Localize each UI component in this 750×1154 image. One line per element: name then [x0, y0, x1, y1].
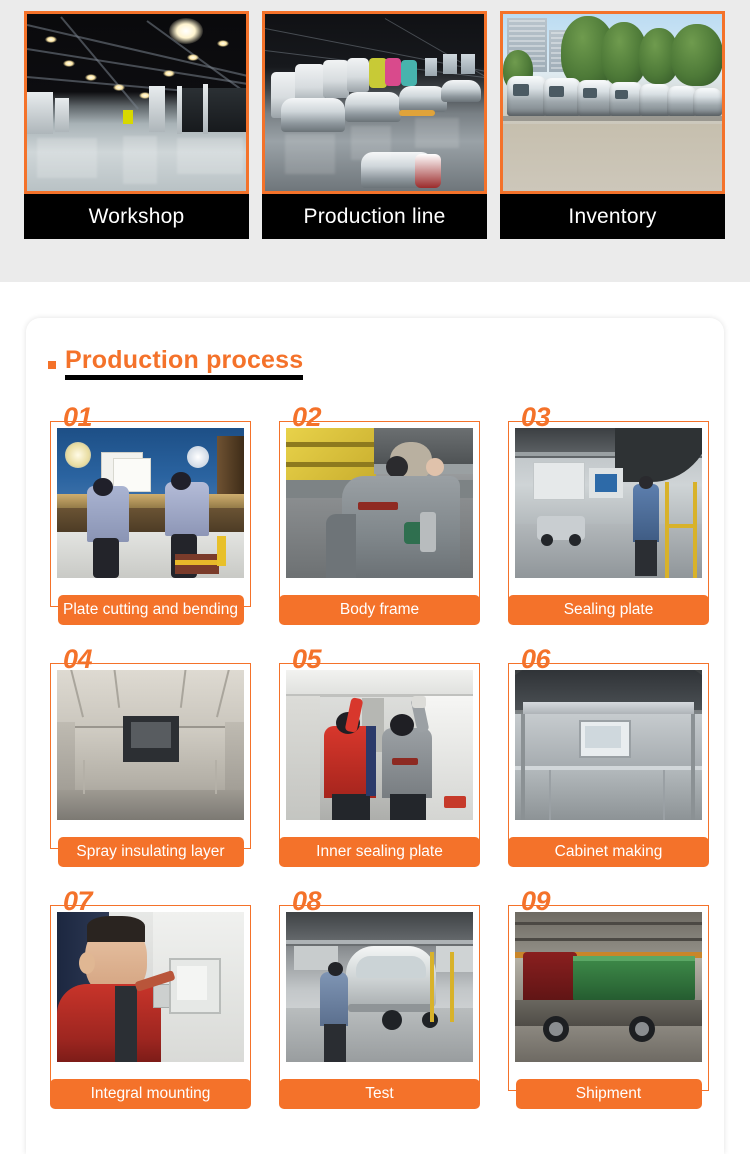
step-number-02: 02: [292, 404, 321, 431]
step-label-01: Plate cutting and bending: [58, 595, 244, 625]
section-title-production-process: Production process: [48, 346, 303, 380]
facility-strip: Workshop: [0, 0, 750, 282]
step-photo-frame-06: [508, 663, 709, 849]
production-line-photo: [262, 11, 487, 194]
facility-card-workshop[interactable]: Workshop: [24, 11, 249, 239]
step-photo-frame-02: [279, 421, 480, 607]
step-photo-frame-01: [50, 421, 251, 607]
facility-card-inventory[interactable]: Inventory: [500, 11, 725, 239]
step-photo-frame-04: [50, 663, 251, 849]
step-photo-frame-09: [508, 905, 709, 1091]
sealing-plate-photo: [515, 428, 702, 578]
production-process-panel: Production process 01: [26, 318, 724, 1154]
step-label-08: Test: [279, 1079, 480, 1109]
step-number-04: 04: [63, 646, 92, 673]
facility-card-row: Workshop: [24, 11, 726, 239]
facility-caption-workshop: Workshop: [24, 194, 249, 239]
process-step-09[interactable]: 09: [508, 888, 709, 1109]
integral-mounting-photo: [57, 912, 244, 1062]
step-number-01: 01: [63, 404, 92, 431]
inventory-yard-photo: [500, 11, 725, 194]
step-label-04: Spray insulating layer: [58, 837, 244, 867]
step-photo-frame-07: [50, 905, 251, 1091]
facility-caption-production-line: Production line: [262, 194, 487, 239]
page-title: Production process: [65, 346, 303, 380]
process-step-04[interactable]: 04: [50, 646, 251, 867]
step-number-03: 03: [521, 404, 550, 431]
step-number-07: 07: [63, 888, 92, 915]
process-step-03[interactable]: 03: [508, 404, 709, 625]
process-step-02[interactable]: 02: [279, 404, 480, 625]
step-label-05: Inner sealing plate: [279, 837, 480, 867]
process-row: 07: [50, 888, 710, 1109]
step-number-06: 06: [521, 646, 550, 673]
inner-sealing-photo: [286, 670, 473, 820]
workshop-interior-photo: [24, 11, 249, 194]
facility-card-production-line[interactable]: Production line: [262, 11, 487, 239]
plate-cutting-photo: [57, 428, 244, 578]
step-photo-frame-05: [279, 663, 480, 849]
step-label-09: Shipment: [516, 1079, 702, 1109]
process-row: 04: [50, 646, 710, 867]
process-step-grid: 01: [50, 404, 710, 1130]
step-label-02: Body frame: [279, 595, 480, 625]
spray-insulating-photo: [57, 670, 244, 820]
test-photo: [286, 912, 473, 1062]
step-number-05: 05: [292, 646, 321, 673]
process-step-08[interactable]: 08: [279, 888, 480, 1109]
process-step-01[interactable]: 01: [50, 404, 251, 625]
step-label-06: Cabinet making: [508, 837, 709, 867]
process-step-06[interactable]: 06: [508, 646, 709, 867]
step-number-08: 08: [292, 888, 321, 915]
body-frame-photo: [286, 428, 473, 578]
process-step-05[interactable]: 05: [279, 646, 480, 867]
step-label-07: Integral mounting: [50, 1079, 251, 1109]
process-row: 01: [50, 404, 710, 625]
shipment-photo: [515, 912, 702, 1062]
step-label-03: Sealing plate: [508, 595, 709, 625]
step-number-09: 09: [521, 888, 550, 915]
square-bullet-icon: [48, 361, 56, 369]
process-step-07[interactable]: 07: [50, 888, 251, 1109]
step-photo-frame-03: [508, 421, 709, 607]
facility-caption-inventory: Inventory: [500, 194, 725, 239]
cabinet-making-photo: [515, 670, 702, 820]
step-photo-frame-08: [279, 905, 480, 1091]
